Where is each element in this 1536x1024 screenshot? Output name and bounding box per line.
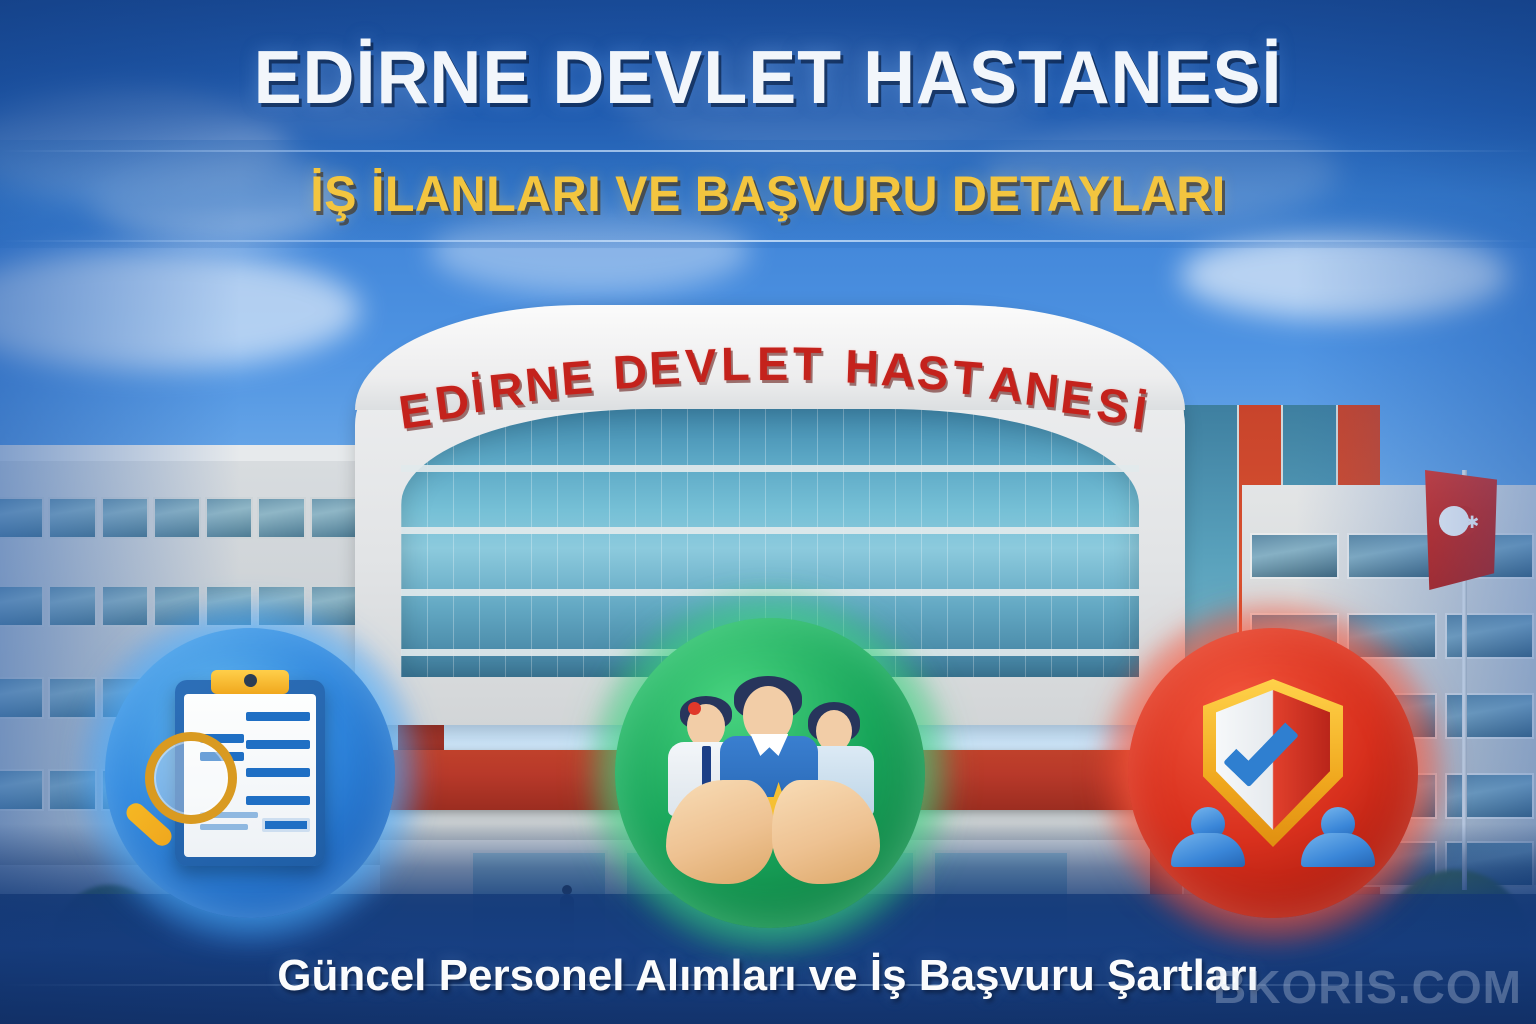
- facade-sign-letter: V: [684, 337, 717, 393]
- hands-icon: [666, 780, 880, 884]
- facade-sign-letter: E: [1058, 368, 1096, 426]
- facade-sign-letter: E: [648, 340, 682, 396]
- facade-sign-letter: S: [915, 344, 950, 401]
- user-silhouette-icon: [1171, 807, 1245, 867]
- facade-sign: EDİRNE DEVLET HASTANESİ: [420, 326, 1130, 422]
- facade-sign-letter: R: [486, 361, 526, 419]
- shield-check-users-icon: [1173, 673, 1373, 873]
- facade-sign-letter: A: [987, 354, 1026, 412]
- facade-sign-letter: D: [611, 343, 648, 400]
- facade-sign-letter: E: [559, 349, 595, 406]
- facade-sign-letter: N: [1022, 361, 1062, 419]
- facade-sign-letter: D: [432, 372, 473, 431]
- clipboard-magnifier-icon: [175, 680, 325, 866]
- facade-sign-letter: L: [721, 336, 750, 391]
- divider-line: [0, 240, 1536, 242]
- page-subtitle: İŞ İLANLARI VE BAŞVURU DETAYLARI: [23, 166, 1513, 222]
- magnifier-icon: [145, 732, 237, 824]
- facade-sign-letter: T: [793, 336, 822, 391]
- facade-sign-letter: T: [951, 349, 984, 406]
- badge-application-requirements: [1128, 628, 1418, 918]
- page-title: EDİRNE DEVLET HASTANESİ: [31, 36, 1506, 118]
- hands-holding-staff-icon: ★: [658, 668, 881, 878]
- facade-sign-letter: N: [523, 354, 562, 412]
- banner-image: EDİRNE DEVLET HASTANESİ HASTANE GİRİŞİ ✱: [0, 0, 1536, 1024]
- badge-job-listings: [105, 628, 395, 918]
- facade-sign-letter: H: [844, 338, 880, 394]
- facade-sign-letter: A: [880, 341, 917, 398]
- divider-line: [0, 150, 1536, 152]
- user-silhouette-icon: [1301, 807, 1375, 867]
- watermark-text: BKORIS.COM: [1213, 960, 1522, 1014]
- facade-sign-letter: E: [757, 336, 788, 391]
- facade-sign-letter: E: [395, 381, 434, 440]
- badge-personnel-care: ★: [615, 618, 925, 928]
